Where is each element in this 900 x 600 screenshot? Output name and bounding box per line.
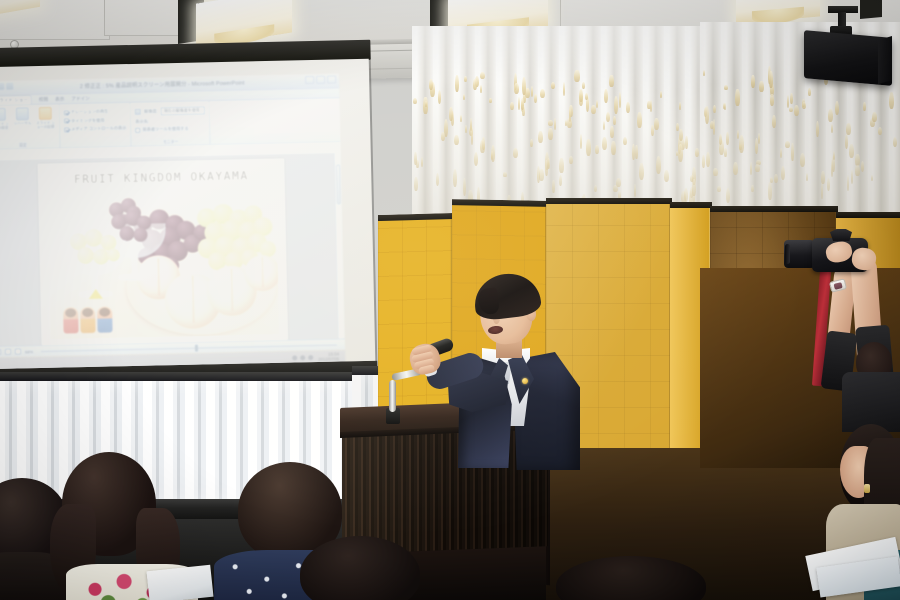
wall-gold-dash [586, 139, 591, 156]
display-on-row[interactable]: 表示先: [135, 117, 205, 125]
wall-gold-dash [794, 105, 799, 116]
wall-gold-dash [808, 88, 811, 96]
wall-gold-dash [650, 100, 652, 112]
lapel-pin [522, 378, 528, 384]
ribbon-group-monitors: 解像度: 現在の解像度を使用 表示先: 発表者ツールを使用する モニタ [131, 101, 211, 146]
display-on-label: 表示先: [135, 118, 149, 124]
current-slide[interactable]: FRUIT KINGDOM OKAYAMA [38, 159, 288, 346]
ribbon[interactable]: スライド ショーの設定 リハーサル スライド ショーの記録 設定 [0, 98, 341, 150]
tab-slideshow[interactable]: スライド ショー [0, 95, 32, 105]
wall-gold-dash [759, 81, 763, 92]
wall-gold-dash [872, 112, 877, 121]
wall-gold-dash [705, 106, 709, 124]
resolution-row[interactable]: 解像度: 現在の解像度を使用 [135, 106, 205, 116]
checkbox-show-media-controls[interactable]: メディア コントロールの表示 [64, 125, 126, 132]
quick-access-toolbar[interactable] [0, 83, 13, 91]
press-photographer [796, 222, 900, 432]
wall-gold-dash [849, 144, 854, 158]
wall-gold-dash [774, 174, 778, 183]
wall-gold-dash [619, 92, 621, 107]
wall-gold-dash [451, 111, 455, 126]
wall-gold-dash [832, 155, 835, 172]
wall-gold-dash [664, 170, 669, 182]
slide-title: FRUIT KINGDOM OKAYAMA [38, 168, 284, 187]
wall-gold-dash [480, 140, 484, 153]
zoom-slider[interactable] [41, 344, 337, 351]
wall-gold-dash [656, 156, 661, 174]
photographer-torso [842, 372, 900, 432]
wall-gold-dash [695, 148, 699, 157]
wall-gold-dash [522, 106, 524, 116]
wall-gold-dash [491, 151, 493, 160]
wall-gold-dash [802, 102, 806, 109]
wall-gold-dash [454, 135, 459, 145]
wall-gold-dash [863, 102, 866, 111]
checkbox-icon[interactable] [64, 127, 69, 132]
wall-gold-dash [723, 103, 726, 109]
earring [864, 484, 870, 493]
wall-gold-dash [510, 102, 514, 110]
wall-gold-dash [802, 99, 805, 107]
wall-gold-dash [567, 118, 572, 128]
wall-gold-dash [602, 137, 607, 150]
wall-gold-dash [703, 70, 705, 75]
window-title: 2 修正正 : 5% 産品説明スクリーン用展開分 - Microsoft Pow… [80, 79, 245, 91]
wall-gold-dash [739, 144, 742, 150]
wall-gold-dash [513, 148, 518, 157]
wall-gold-dash [750, 162, 752, 175]
checkbox-label: 発表者ツールを使用する [142, 126, 188, 133]
wall-gold-dash [429, 79, 433, 90]
wall-gold-dash [676, 123, 679, 131]
wall-gold-dash [706, 152, 710, 167]
wall-gold-dash [651, 125, 654, 136]
wall-gold-dash [569, 108, 571, 122]
wall-gold-dash [522, 77, 526, 95]
wall-gold-dash [702, 155, 705, 167]
checkbox-label: ナレーションの再生 [71, 108, 109, 115]
wall-gold-dash [416, 160, 418, 168]
resolution-icon [135, 109, 141, 115]
wall-gold-dash [596, 100, 598, 108]
wall-gold-dash [870, 118, 875, 127]
wall-gold-dash [586, 96, 590, 112]
ceiling-speaker [806, 6, 898, 82]
checkbox-label: タイミングを使用 [71, 117, 105, 124]
wall-gold-dash [538, 131, 543, 144]
rehearse-timings-button[interactable]: リハーサル [13, 107, 32, 126]
wall-gold-dash [430, 82, 435, 97]
normal-view-icon[interactable] [0, 349, 1, 355]
projection-screen: 2 修正正 : 5% 産品説明スクリーン用展開分 - Microsoft Pow… [0, 40, 378, 384]
wall-gold-dash [676, 151, 678, 156]
wall-gold-dash [710, 121, 714, 129]
wall-gold-dash [835, 101, 839, 116]
wall-gold-dash [616, 178, 621, 187]
tab-addins[interactable]: アドイン [71, 95, 90, 103]
wall-gold-dash [569, 105, 573, 117]
window-controls[interactable] [305, 76, 336, 85]
checkbox-play-narrations[interactable]: ナレーションの再生 [64, 108, 126, 115]
maximize-button[interactable] [316, 76, 325, 84]
wall-gold-dash [871, 175, 873, 181]
wall-gold-dash [469, 126, 474, 135]
wall-gold-dash [831, 124, 834, 133]
wall-gold-dash [548, 128, 552, 140]
wall-gold-dash [831, 159, 833, 176]
wall-gold-dash [473, 79, 477, 90]
wall-gold-dash [632, 144, 635, 160]
reading-view-icon[interactable] [15, 348, 21, 354]
wall-gold-dash [791, 143, 793, 161]
wall-gold-dash [444, 119, 448, 137]
wall-gold-dash [582, 82, 585, 89]
wall-gold-dash [471, 127, 473, 145]
button-caption: スライド ショーの設定 [0, 122, 9, 131]
wall-gold-dash [680, 139, 685, 150]
group-label: 設定 [0, 143, 60, 150]
close-button[interactable] [327, 76, 336, 84]
wall-gold-dash [893, 137, 898, 148]
wall-gold-dash [878, 127, 883, 135]
wall-gold-dash [545, 152, 550, 169]
wall-gold-dash [713, 119, 716, 136]
wall-gold-dash [751, 75, 754, 88]
button-caption: スライド ショーの記録 [36, 121, 55, 130]
wall-gold-dash [846, 123, 851, 136]
ceiling-light [196, 0, 292, 48]
wall-gold-dash [565, 120, 567, 126]
wall-gold-dash [780, 148, 782, 158]
wall-gold-dash [785, 141, 790, 148]
wall-gold-dash [523, 92, 526, 102]
wall-gold-dash [790, 93, 793, 104]
wall-gold-dash [480, 85, 482, 93]
slide-fruit-photo [47, 189, 280, 340]
wall-gold-dash [739, 135, 744, 153]
checkbox-label: メディア コントロールの表示 [71, 125, 126, 132]
wall-gold-dash [845, 134, 848, 149]
checkbox-icon[interactable] [135, 127, 140, 132]
wall-gold-dash [679, 102, 681, 110]
wall-gold-dash [514, 83, 519, 94]
scrollbar-thumb[interactable] [336, 164, 341, 204]
wall-gold-dash [436, 173, 439, 186]
wall-gold-dash [518, 97, 521, 110]
wall-gold-dash [639, 163, 644, 180]
wall-gold-dash [889, 92, 894, 109]
vertical-scrollbar[interactable] [334, 152, 345, 338]
wall-gold-dash [574, 70, 579, 82]
wall-gold-dash [806, 173, 809, 181]
wall-gold-dash [654, 118, 659, 130]
wall-gold-dash [626, 102, 630, 113]
wall-gold-dash [733, 162, 738, 175]
wall-gold-dash [595, 145, 599, 154]
button-caption: リハーサル [14, 121, 32, 126]
wall-gold-dash [613, 116, 616, 125]
tray-icons [292, 355, 313, 360]
wall-gold-dash [756, 160, 761, 165]
wall-gold-dash [585, 93, 588, 101]
wall-gold-dash [521, 98, 524, 111]
wall-gold-dash [623, 137, 627, 145]
wall-gold-dash [421, 157, 423, 167]
taskbar-date: 2012/07/05 [318, 357, 339, 362]
wall-gold-dash [606, 112, 611, 122]
presentation-photo-scene: 2 修正正 : 5% 産品説明スクリーン用展開分 - Microsoft Pow… [0, 0, 900, 600]
wall-gold-dash [713, 105, 716, 113]
wall-gold-dash [724, 85, 728, 90]
wall-gold-dash [579, 89, 583, 102]
wall-gold-dash [423, 97, 427, 114]
camera-viewfinder [830, 229, 852, 241]
wall-gold-dash [414, 152, 417, 165]
wall-gold-dash [530, 139, 533, 147]
wall-gold-dash [692, 167, 696, 185]
tab-review[interactable]: 校閲 [39, 96, 48, 104]
wall-gold-dash [470, 118, 473, 131]
wall-gold-dash [751, 185, 753, 192]
wall-gold-dash [554, 118, 557, 130]
wall-gold-dash [464, 76, 467, 82]
clock-icon [16, 107, 29, 120]
checkbox-icon[interactable] [64, 118, 69, 123]
wall-gold-dash [491, 145, 495, 162]
minimize-button[interactable] [305, 76, 314, 84]
wall-gold-dash [770, 94, 774, 106]
tab-view[interactable]: 表示 [55, 95, 64, 103]
wall-gold-dash [781, 166, 785, 181]
wall-gold-dash [449, 107, 453, 121]
wall-gold-dash [770, 177, 774, 183]
wall-gold-dash [833, 151, 835, 160]
wall-gold-dash [441, 132, 445, 141]
wall-gold-dash [816, 121, 819, 136]
wall-gold-dash [719, 134, 723, 144]
handout-papers [147, 565, 214, 600]
wall-gold-dash [539, 169, 544, 181]
save-icon[interactable] [0, 83, 4, 90]
wall-gold-dash [552, 180, 554, 193]
resolution-label: 解像度: [144, 108, 158, 114]
wall-gold-dash [614, 96, 618, 114]
wall-gold-dash [724, 103, 726, 111]
wall-gold-dash [724, 148, 726, 157]
wall-gold-dash [726, 132, 729, 144]
wall-gold-dash [719, 140, 724, 156]
undo-icon[interactable] [6, 83, 13, 90]
wall-gold-dash [465, 125, 467, 133]
wall-gold-dash [861, 161, 865, 172]
wall-gold-dash [569, 156, 573, 164]
wall-gold-dash [455, 75, 459, 92]
wall-gold-dash [548, 120, 553, 125]
checkbox-presenter-view[interactable]: 発表者ツールを使用する [135, 125, 205, 133]
wall-gold-dash [537, 166, 541, 183]
wall-gold-dash [580, 134, 582, 148]
wall-gold-dash [770, 83, 774, 97]
resolution-select[interactable]: 現在の解像度を使用 [161, 106, 205, 115]
wall-gold-dash [789, 107, 794, 112]
wall-gold-dash [591, 105, 596, 114]
wall-gold-dash [609, 75, 613, 87]
wall-gold-dash [534, 94, 537, 103]
wall-gold-dash [594, 185, 598, 193]
wall-gold-dash [503, 172, 506, 178]
wall-gold-dash [679, 129, 683, 141]
attendee-right-inner [556, 556, 706, 600]
wall-gold-dash [717, 186, 721, 192]
wall-gold-dash [482, 137, 485, 150]
monitor-icon [0, 108, 6, 121]
wall-gold-dash [613, 185, 618, 192]
wall-gold-dash [545, 160, 548, 177]
wall-gold-dash [637, 112, 642, 129]
wall-gold-dash [610, 126, 614, 138]
ribbon-group-playback: ナレーションの再生 タイミングを使用 メディア コントロールの表示 [60, 103, 132, 148]
wall-gold-dash [547, 158, 550, 169]
wall-gold-dash [475, 76, 479, 87]
wall-gold-dash [438, 90, 442, 103]
wall-gold-dash [713, 168, 718, 176]
wall-gold-dash [425, 101, 427, 107]
wall-gold-dash [690, 175, 695, 182]
powerpoint-window[interactable]: 2 修正正 : 5% 産品説明スクリーン用展開分 - Microsoft Pow… [0, 73, 345, 357]
record-icon [39, 107, 52, 120]
wall-gold-dash [531, 86, 534, 98]
wall-gold-dash [847, 175, 849, 191]
wall-gold-dash [611, 141, 616, 155]
wall-gold-dash [559, 158, 563, 173]
wall-gold-dash [685, 136, 688, 150]
wall-gold-dash [828, 109, 833, 122]
wall-gold-dash [647, 101, 650, 109]
wall-gold-dash [758, 133, 760, 143]
wall-gold-dash [603, 121, 605, 130]
wall-gold-dash [413, 98, 417, 104]
wall-gold-dash [735, 89, 740, 107]
wall-gold-dash [480, 72, 485, 79]
wall-gold-dash [768, 66, 771, 84]
wall-gold-dash [755, 138, 759, 154]
record-slideshow-button[interactable]: スライド ショーの記録 [36, 107, 55, 130]
wall-gold-dash [827, 178, 831, 192]
wall-gold-dash [855, 165, 859, 177]
wall-gold-dash [525, 88, 530, 98]
wall-gold-dash [414, 177, 418, 192]
wall-gold-dash [692, 179, 696, 196]
wall-gold-dash [769, 71, 773, 88]
sorter-view-icon[interactable] [5, 349, 11, 355]
wall-gold-dash [540, 89, 545, 98]
wall-gold-dash [463, 178, 466, 196]
wall-gold-dash [463, 94, 465, 100]
wall-gold-dash [453, 169, 457, 187]
wall-gold-dash [800, 153, 805, 166]
wall-gold-dash [579, 94, 584, 105]
zoom-level: 68% [25, 349, 33, 354]
blind-headrail [0, 372, 356, 381]
group-label: モニター [132, 139, 210, 146]
wall-gold-dash [604, 89, 608, 103]
wall-gold-dash [559, 175, 562, 186]
wall-gold-dash [737, 130, 739, 139]
wall-gold-dash [514, 73, 518, 90]
wall-gold-dash [678, 136, 682, 154]
wall-gold-dash [460, 115, 462, 122]
wall-gold-dash [755, 164, 760, 173]
wall-gold-dash [521, 100, 525, 112]
wall-gold-dash [821, 171, 824, 184]
wall-gold-dash [851, 170, 853, 183]
wall-gold-dash [678, 144, 683, 162]
setup-slideshow-button[interactable]: スライド ショーの設定 [0, 108, 9, 131]
wall-gold-dash [489, 98, 492, 104]
wall-gold-dash [704, 107, 708, 117]
wall-gold-dash [772, 115, 776, 128]
wall-gold-dash [563, 82, 566, 96]
wall-gold-dash [787, 95, 789, 108]
slide-workspace: FRUIT KINGDOM OKAYAMA [0, 152, 345, 346]
checkbox-icon[interactable] [64, 110, 69, 115]
wall-gold-dash [635, 145, 637, 159]
wall-gold-dash [551, 82, 555, 88]
checkbox-use-timings[interactable]: タイミングを使用 [64, 117, 126, 124]
attendee-right-edge [300, 536, 420, 600]
wall-gold-dash [855, 154, 860, 167]
screen-surface: 2 修正正 : 5% 産品説明スクリーン用展開分 - Microsoft Pow… [0, 59, 375, 369]
wall-gold-dash [474, 152, 479, 165]
presenter [452, 266, 582, 466]
ribbon-group-setup: スライド ショーの設定 リハーサル スライド ショーの記録 設定 [0, 105, 61, 150]
wall-gold-dash [634, 184, 636, 197]
wall-gold-dash [660, 91, 662, 98]
